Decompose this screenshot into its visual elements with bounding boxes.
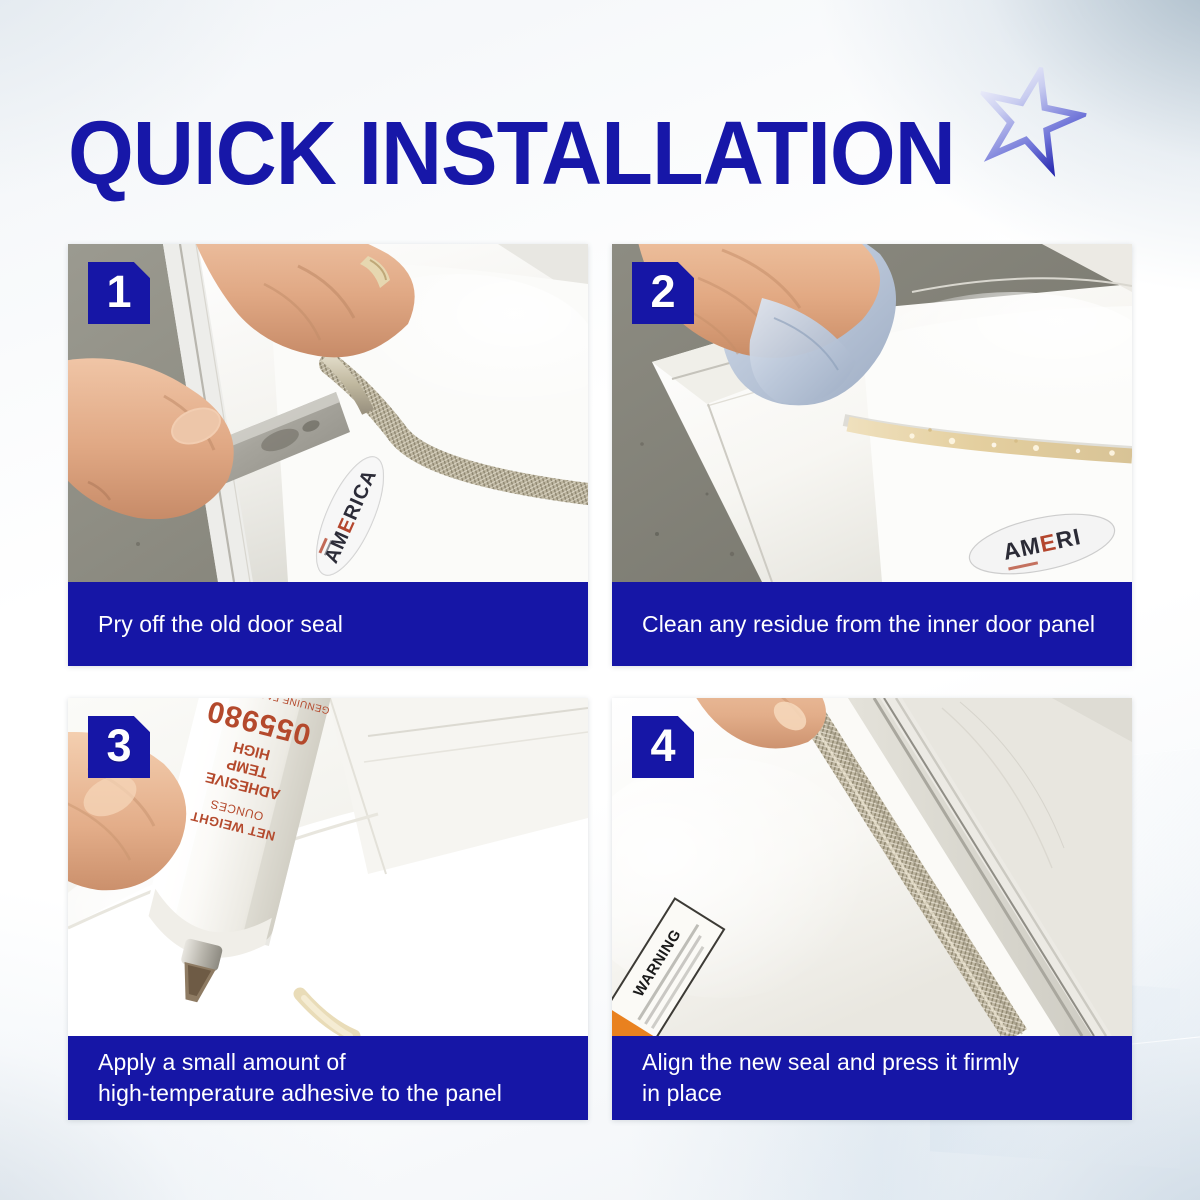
step-caption-line2: high-temperature adhesive to the panel <box>98 1078 588 1109</box>
step-number-badge-1: 1 <box>88 262 150 324</box>
step-card-4[interactable]: ⚠ WARNING 4 Align the new seal and press… <box>612 698 1132 1120</box>
step-caption-line2: in place <box>642 1078 1132 1109</box>
infographic-poster: QUICK INSTALLATION <box>0 0 1200 1200</box>
star-icon <box>966 56 1094 184</box>
step-caption-3: Apply a small amount of high-temperature… <box>68 1036 588 1120</box>
step-number-badge-3: 3 <box>88 716 150 778</box>
page-title: QUICK INSTALLATION <box>68 108 1074 200</box>
step-photo-2: AMERI 2 <box>612 244 1132 582</box>
step-card-1[interactable]: AMERICA 1 Pry off the old door seal <box>68 244 588 666</box>
step-caption-1: Pry off the old door seal <box>68 582 588 666</box>
step-photo-1: AMERICA 1 <box>68 244 588 582</box>
step-photo-3: NET WEIGHT OUNCES ADHESIVE TEMP HIGH 055… <box>68 698 588 1036</box>
step-number-badge-2: 2 <box>632 262 694 324</box>
step-caption-2: Clean any residue from the inner door pa… <box>612 582 1132 666</box>
step-caption-line1: Align the new seal and press it firmly <box>642 1047 1132 1078</box>
step-photo-4: ⚠ WARNING 4 <box>612 698 1132 1036</box>
step-caption-line1: Pry off the old door seal <box>98 609 588 640</box>
title-block: QUICK INSTALLATION <box>68 108 1138 216</box>
steps-grid: AMERICA 1 Pry off the old door seal <box>68 244 1132 1120</box>
step-caption-4: Align the new seal and press it firmly i… <box>612 1036 1132 1120</box>
step-caption-line1: Clean any residue from the inner door pa… <box>642 609 1132 640</box>
step-caption-line1: Apply a small amount of <box>98 1047 588 1078</box>
step-card-3[interactable]: NET WEIGHT OUNCES ADHESIVE TEMP HIGH 055… <box>68 698 588 1120</box>
step-number-badge-4: 4 <box>632 716 694 778</box>
step-card-2[interactable]: AMERI 2 Clean any residue from the inner… <box>612 244 1132 666</box>
